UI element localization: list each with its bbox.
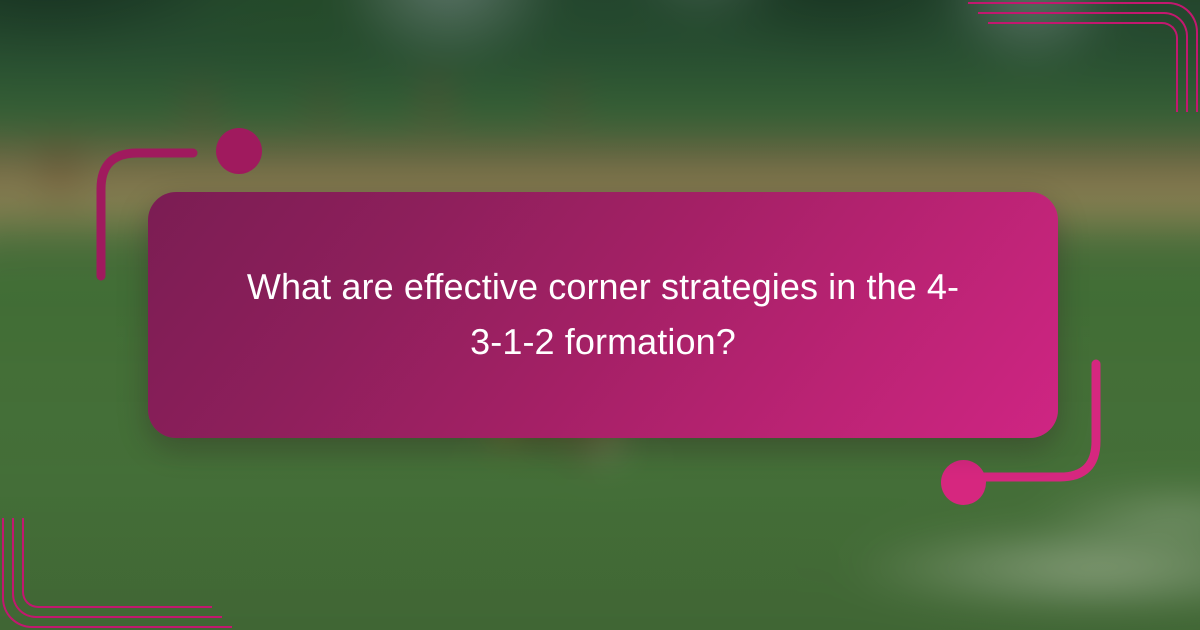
dot-bottom-right-icon <box>941 460 986 505</box>
question-text: What are effective corner strategies in … <box>233 260 973 369</box>
question-card-banner: What are effective corner strategies in … <box>0 0 1200 630</box>
question-card: What are effective corner strategies in … <box>148 192 1058 438</box>
dot-top-left-icon <box>216 128 262 174</box>
